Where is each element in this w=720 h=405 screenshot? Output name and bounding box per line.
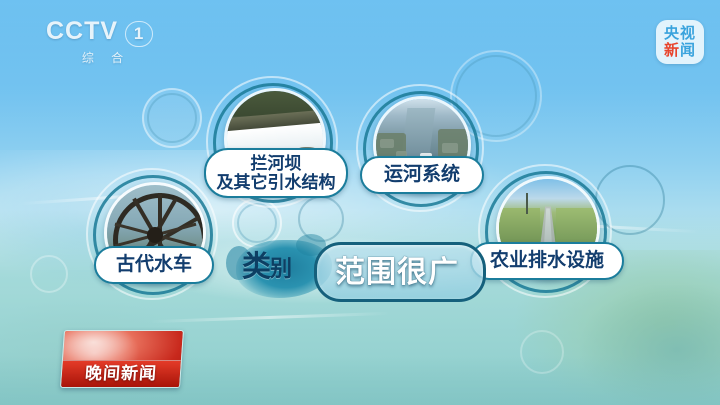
bubble-caption-dam[interactable]: 拦河坝 及其它引水结构: [204, 148, 348, 198]
cctv-channel-number: 1: [125, 21, 153, 47]
category-char-2: 别: [270, 256, 291, 281]
canal-building-1: [380, 139, 394, 148]
news-badge-line2: 新闻: [664, 43, 696, 59]
program-badge-title: 晚间新闻: [61, 364, 180, 384]
bubble-ancient-water-wheel: 古代水车: [86, 168, 218, 300]
bubble-caption-ancient-water-wheel[interactable]: 古代水车: [94, 246, 214, 284]
canal-building-3: [442, 143, 458, 153]
decorative-ring-6: [30, 255, 68, 293]
banner-headline-text: 范围很广: [314, 242, 480, 296]
news-badge-line1: 央视: [664, 26, 696, 42]
bubble-dam-and-diversion: 拦河坝 及其它引水结构: [206, 76, 338, 208]
cctv-wordmark: CCTV1: [46, 18, 166, 47]
cctv-text: CCTV: [46, 17, 118, 45]
caption-line: 古代水车: [116, 254, 192, 275]
bubble-agricultural-drainage: 农业排水设施: [478, 164, 612, 298]
bubble-canal-system: 运河系统: [356, 84, 484, 212]
cctv-news-badge: 央视 新闻: [656, 20, 704, 64]
decorative-ring-4-inner: [237, 203, 277, 243]
cctv-subtitle: 综 合: [46, 49, 166, 66]
news-badge-char-wen: 闻: [680, 42, 696, 59]
water-streak-3: [150, 312, 390, 323]
decorative-ring-inner-1: [147, 93, 197, 143]
bubble-caption-drainage[interactable]: 农业排水设施: [470, 242, 624, 280]
program-badge: 晚间新闻: [60, 330, 184, 388]
category-char-1: 类: [242, 251, 270, 283]
broadcast-screen: CCTV1 综 合 央视 新闻 晚间新闻 古代水车: [0, 0, 720, 405]
drainage-pole: [526, 193, 528, 215]
caption-line-2: 及其它引水结构: [217, 173, 336, 192]
bubble-caption-canal[interactable]: 运河系统: [360, 156, 484, 194]
news-badge-char-xin: 新: [664, 42, 680, 59]
right-foliage-wash-2: [545, 285, 720, 405]
caption-line: 运河系统: [384, 164, 460, 185]
decorative-ring-7: [520, 330, 564, 374]
caption-line-1: 拦河坝: [251, 154, 302, 173]
water-wheel-hub: [147, 227, 163, 243]
cctv-channel-logo: CCTV1 综 合: [46, 18, 166, 62]
lower-third-banner: 类别 范围很广: [236, 238, 481, 300]
caption-line: 农业排水设施: [490, 250, 604, 271]
